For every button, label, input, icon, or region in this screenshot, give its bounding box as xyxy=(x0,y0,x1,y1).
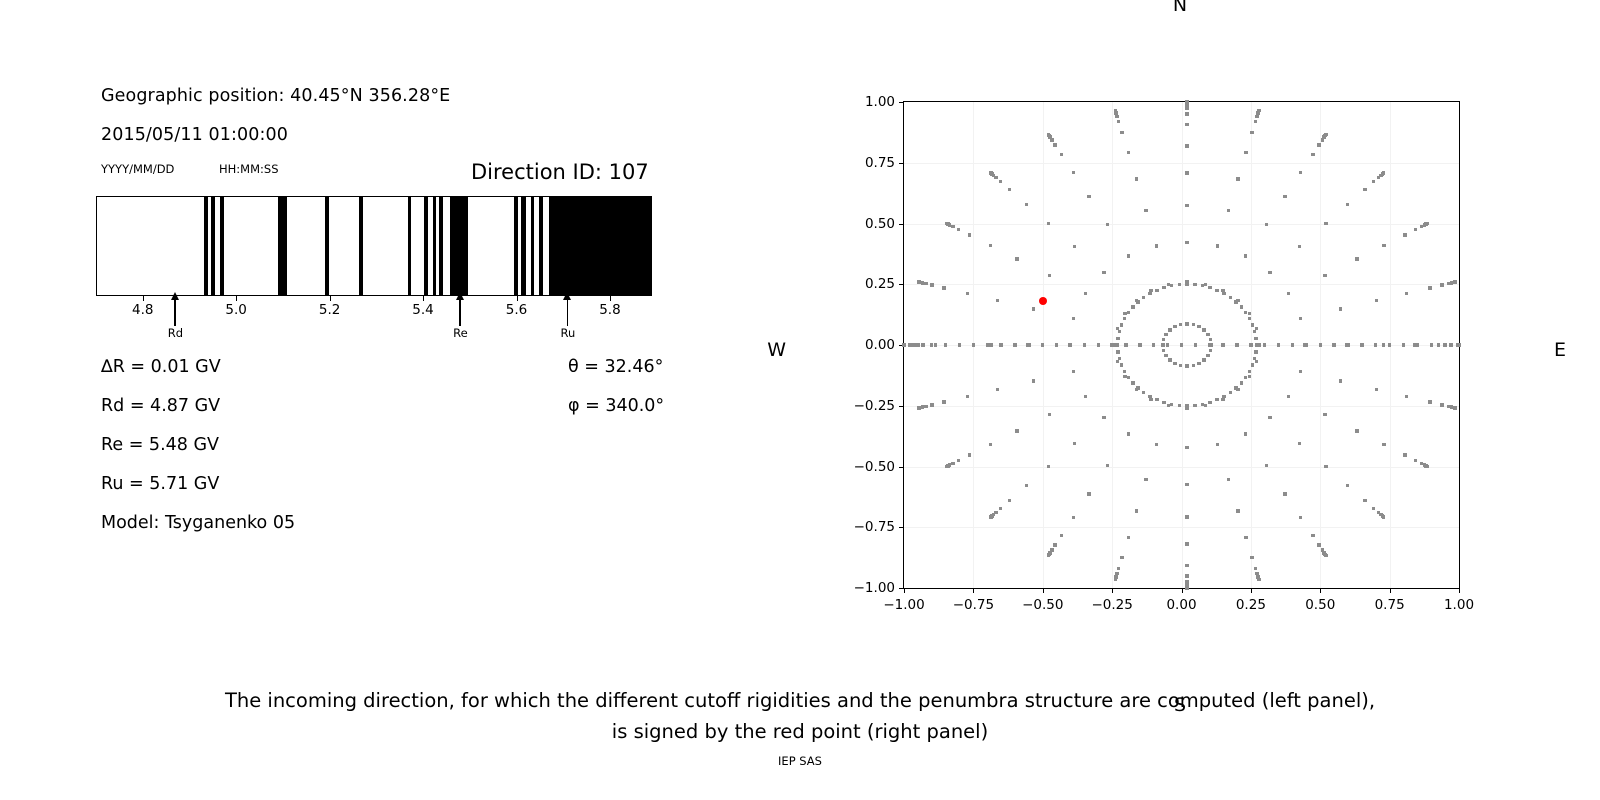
scatter-dot xyxy=(1116,350,1119,353)
scatter-dot xyxy=(1244,376,1247,379)
scatter-dot xyxy=(1144,209,1147,212)
scatter-dot xyxy=(1047,465,1050,468)
scatter-dot xyxy=(1053,543,1056,546)
scatter-dot xyxy=(1087,195,1090,198)
scatter-dot xyxy=(1084,292,1087,295)
y-axis-tick xyxy=(899,527,904,528)
axis-tick-label: 4.8 xyxy=(132,302,153,318)
scatter-dot xyxy=(1204,283,1207,286)
caption-line-1: The incoming direction, for which the di… xyxy=(0,685,1600,716)
scatter-dot xyxy=(1127,311,1130,314)
x-axis-tick xyxy=(1251,588,1252,593)
scatter-dot xyxy=(1250,556,1253,559)
scatter-dot xyxy=(1197,325,1200,328)
scatter-dot xyxy=(1403,453,1406,456)
scatter-dot xyxy=(1305,343,1308,346)
scatter-dot xyxy=(1222,395,1225,398)
penumbra-band xyxy=(433,197,436,295)
scatter-dot xyxy=(1073,245,1076,248)
scatter-dot xyxy=(1162,338,1165,341)
datetime-value: 2015/05/11 01:00:00 xyxy=(101,125,288,145)
scatter-dot xyxy=(1453,406,1456,409)
scatter-dot xyxy=(1388,343,1391,346)
y-axis-tick xyxy=(899,224,904,225)
scatter-dot xyxy=(1164,354,1167,357)
scatter-dot xyxy=(1437,343,1440,346)
x-axis-tick-label: −1.00 xyxy=(883,597,924,613)
scatter-dot xyxy=(999,343,1002,346)
x-axis-tick xyxy=(973,588,974,593)
scatter-dot xyxy=(1324,465,1327,468)
scatter-dot xyxy=(1083,343,1086,346)
scatter-dot xyxy=(921,343,924,346)
penumbra-band xyxy=(408,197,412,295)
arrow-shaft xyxy=(459,296,460,326)
scatter-dot xyxy=(1248,312,1251,315)
scatter-dot xyxy=(1164,333,1167,336)
scatter-dot xyxy=(996,299,999,302)
scatter-dot xyxy=(1222,292,1225,295)
scatter-dot xyxy=(1453,280,1456,283)
scatter-dot xyxy=(958,343,961,346)
scatter-dot xyxy=(1382,515,1385,518)
gridline-horizontal xyxy=(904,284,1459,285)
scatter-dot xyxy=(1346,484,1349,487)
scatter-dot xyxy=(924,282,927,285)
scatter-dot xyxy=(1277,343,1280,346)
scatter-dot xyxy=(1257,109,1260,112)
scatter-dot xyxy=(1193,283,1196,286)
scatter-dot xyxy=(951,462,954,465)
scatter-dot xyxy=(1257,578,1260,581)
param-theta: θ = 32.46° xyxy=(568,357,663,377)
gridline-horizontal xyxy=(904,527,1459,528)
arrow-shaft xyxy=(174,296,175,326)
scatter-dot xyxy=(1240,381,1243,384)
penumbra-band xyxy=(514,197,518,295)
scatter-dot xyxy=(1244,151,1247,154)
scatter-dot xyxy=(930,343,933,346)
scatter-dot xyxy=(1202,358,1205,361)
scatter-dot xyxy=(1115,115,1118,118)
scatter-dot xyxy=(1162,286,1165,289)
scatter-dot xyxy=(1185,404,1188,407)
scatter-dot xyxy=(1015,429,1018,432)
scatter-dot xyxy=(1168,358,1171,361)
scatter-dot xyxy=(1414,459,1417,462)
scatter-dot xyxy=(1185,446,1188,449)
scatter-dot xyxy=(1072,317,1075,320)
scatter-dot xyxy=(1204,404,1207,407)
gridline-horizontal xyxy=(904,406,1459,407)
right-panel: −1.00−0.75−0.50−0.250.000.250.500.751.00… xyxy=(830,40,1530,660)
scatter-dot xyxy=(1323,274,1326,277)
scatter-dot xyxy=(945,465,948,468)
scatter-dot xyxy=(1110,343,1113,346)
y-axis-tick-label: 1.00 xyxy=(865,94,895,110)
axis-tick xyxy=(236,296,237,301)
axis-tick xyxy=(143,296,144,301)
scatter-dot xyxy=(1375,299,1378,302)
scatter-dot xyxy=(1311,534,1314,537)
scatter-dot xyxy=(1251,323,1254,326)
scatter-dot xyxy=(1106,464,1109,467)
penumbra-band xyxy=(325,197,328,295)
x-axis-tick-label: 1.00 xyxy=(1444,597,1474,613)
x-axis-tick-label: 0.75 xyxy=(1375,597,1405,613)
param-model: Model: Tsyganenko 05 xyxy=(101,513,295,533)
scatter-dot xyxy=(1324,222,1327,225)
direction-scatter-plot: −1.00−0.75−0.50−0.250.000.250.500.751.00… xyxy=(903,101,1460,589)
penumbra-band xyxy=(450,197,469,295)
scatter-dot xyxy=(1363,499,1366,502)
penumbra-band xyxy=(521,197,525,295)
scatter-dot xyxy=(989,515,992,518)
scatter-dot xyxy=(1209,349,1212,352)
x-axis-tick-label: 0.50 xyxy=(1305,597,1335,613)
scatter-dot xyxy=(1240,305,1243,308)
penumbra-band xyxy=(531,197,534,295)
scatter-dot xyxy=(1144,478,1147,481)
scatter-dot xyxy=(1185,112,1188,115)
scatter-dot xyxy=(1185,322,1188,325)
x-axis-tick xyxy=(1320,588,1321,593)
scatter-dot xyxy=(1374,343,1377,346)
scatter-dot xyxy=(1430,343,1433,346)
scatter-dot xyxy=(917,406,920,409)
scatter-dot xyxy=(1185,574,1188,577)
scatter-dot xyxy=(1118,357,1121,360)
scatter-dot xyxy=(1201,403,1204,406)
param-ru: Ru = 5.71 GV xyxy=(101,474,219,494)
scatter-dot xyxy=(1185,204,1188,207)
scatter-dot xyxy=(966,395,969,398)
penumbra-band xyxy=(539,197,543,295)
scatter-dot xyxy=(1142,391,1145,394)
scatter-dot xyxy=(1440,403,1443,406)
y-axis-tick xyxy=(899,102,904,103)
scatter-dot xyxy=(1382,343,1385,346)
highlight-red-point xyxy=(1039,297,1047,305)
scatter-dot xyxy=(1375,388,1378,391)
y-axis-tick-label: −0.25 xyxy=(854,398,895,414)
scatter-dot xyxy=(1194,343,1197,346)
scatter-dot xyxy=(1323,413,1326,416)
scatter-dot xyxy=(1227,209,1230,212)
scatter-dot xyxy=(1229,296,1232,299)
scatter-dot xyxy=(1170,284,1173,287)
scatter-dot xyxy=(1173,325,1176,328)
scatter-dot xyxy=(1291,343,1294,346)
scatter-dot xyxy=(1155,443,1158,446)
scatter-dot xyxy=(1339,307,1342,310)
y-axis-tick xyxy=(899,284,904,285)
scatter-dot xyxy=(1363,188,1366,191)
scatter-dot xyxy=(1047,554,1050,557)
scatter-dot xyxy=(1248,370,1251,373)
scatter-dot xyxy=(1206,354,1209,357)
y-axis-tick-label: −0.50 xyxy=(854,459,895,475)
scatter-dot xyxy=(1372,507,1375,510)
scatter-dot xyxy=(1120,363,1123,366)
compass-label-east: E xyxy=(1554,339,1566,361)
gridline-horizontal xyxy=(904,467,1459,468)
scatter-dot xyxy=(1041,343,1044,346)
scatter-dot xyxy=(1426,222,1429,225)
penumbra-axis: 4.85.05.25.45.65.8RdReRu xyxy=(96,296,652,356)
scatter-dot xyxy=(1185,107,1188,110)
scatter-dot xyxy=(1185,144,1188,147)
scatter-dot xyxy=(1015,257,1018,260)
penumbra-band xyxy=(220,197,224,295)
penumbra-band xyxy=(439,197,443,295)
x-axis-tick xyxy=(904,588,905,593)
scatter-dot xyxy=(1405,395,1408,398)
scatter-dot xyxy=(1166,343,1169,346)
scatter-dot xyxy=(1127,151,1130,154)
scatter-dot xyxy=(1250,131,1253,134)
scatter-dot xyxy=(1116,343,1119,346)
scatter-dot xyxy=(1127,254,1130,257)
scatter-dot xyxy=(1060,534,1063,537)
scatter-dot xyxy=(968,233,971,236)
scatter-dot xyxy=(1032,307,1035,310)
x-axis-tick xyxy=(1112,588,1113,593)
scatter-dot xyxy=(916,343,919,346)
x-axis-tick xyxy=(1182,588,1183,593)
axis-tick xyxy=(517,296,518,301)
scatter-dot xyxy=(1193,404,1196,407)
scatter-dot xyxy=(1114,109,1117,112)
scatter-dot xyxy=(1253,330,1256,333)
penumbra-band xyxy=(278,197,286,295)
scatter-dot xyxy=(1268,271,1271,274)
scatter-dot xyxy=(1161,343,1164,346)
scatter-dot xyxy=(1053,143,1056,146)
scatter-dot xyxy=(1209,338,1212,341)
penumbra-band xyxy=(211,197,215,295)
scatter-dot xyxy=(1234,300,1237,303)
scatter-dot xyxy=(1244,432,1247,435)
compass-label-north: N xyxy=(1173,0,1187,16)
scatter-dot xyxy=(1372,180,1375,183)
scatter-dot xyxy=(1254,350,1257,353)
scatter-dot xyxy=(1048,274,1051,277)
axis-tick xyxy=(330,296,331,301)
scatter-dot xyxy=(1013,343,1016,346)
scatter-dot xyxy=(1255,343,1258,346)
axis-tick-label: 5.0 xyxy=(225,302,246,318)
scatter-dot xyxy=(908,343,911,346)
scatter-dot xyxy=(1283,492,1286,495)
gridline-horizontal xyxy=(904,163,1459,164)
left-panel: Geographic position: 40.45°N 356.28°E 20… xyxy=(0,0,760,620)
caption-line-2: is signed by the red point (right panel) xyxy=(0,716,1600,747)
scatter-dot xyxy=(1227,478,1230,481)
scatter-dot xyxy=(1148,395,1151,398)
scatter-dot xyxy=(1443,343,1446,346)
scatter-dot xyxy=(1131,305,1134,308)
penumbra-chart xyxy=(96,196,652,296)
scatter-dot xyxy=(1173,362,1176,365)
scatter-dot xyxy=(1123,370,1126,373)
axis-tick xyxy=(423,296,424,301)
scatter-dot xyxy=(1402,343,1405,346)
scatter-dot xyxy=(986,343,989,346)
scatter-dot xyxy=(1287,292,1290,295)
scatter-dot xyxy=(1168,328,1171,331)
scatter-dot xyxy=(944,343,947,346)
date-format-hint: YYYY/MM/DD xyxy=(101,162,174,176)
scatter-dot xyxy=(1179,323,1182,326)
scatter-dot xyxy=(1208,286,1211,289)
scatter-dot xyxy=(1221,398,1224,401)
scatter-dot xyxy=(1298,442,1301,445)
scatter-dot xyxy=(1135,509,1138,512)
scatter-dot xyxy=(1229,391,1232,394)
scatter-dot xyxy=(930,403,933,406)
scatter-dot xyxy=(1185,171,1188,174)
scatter-dot xyxy=(989,443,992,446)
scatter-dot xyxy=(1216,244,1219,247)
arrow-up-icon xyxy=(456,292,464,300)
scatter-dot xyxy=(968,453,971,456)
scatter-dot xyxy=(1178,404,1181,407)
rigidity-marker-label: Rd xyxy=(168,326,183,340)
scatter-dot xyxy=(1149,398,1152,401)
scatter-dot xyxy=(1208,401,1211,404)
scatter-dot xyxy=(1414,228,1417,231)
scatter-dot xyxy=(1185,123,1188,126)
scatter-dot xyxy=(989,244,992,247)
scatter-dot xyxy=(1221,343,1224,346)
scatter-dot xyxy=(1236,509,1239,512)
scatter-dot xyxy=(957,228,960,231)
scatter-dot xyxy=(1131,381,1134,384)
scatter-dot xyxy=(1148,292,1151,295)
scatter-dot xyxy=(1426,465,1429,468)
scatter-dot xyxy=(1135,177,1138,180)
axis-tick-label: 5.4 xyxy=(412,302,433,318)
scatter-dot xyxy=(924,405,927,408)
scatter-dot xyxy=(1317,543,1320,546)
scatter-dot xyxy=(1117,567,1120,570)
scatter-dot xyxy=(1025,203,1028,206)
scatter-dot xyxy=(1324,554,1327,557)
scatter-dot xyxy=(942,400,945,403)
scatter-dot xyxy=(1185,364,1188,367)
scatter-dot xyxy=(1127,376,1130,379)
scatter-dot xyxy=(1106,223,1109,226)
scatter-dot xyxy=(1215,398,1218,401)
scatter-dot xyxy=(1136,386,1139,389)
scatter-dot xyxy=(1299,370,1302,373)
scatter-dot xyxy=(1249,343,1252,346)
scatter-dot xyxy=(1136,300,1139,303)
x-axis-tick-label: −0.75 xyxy=(953,597,994,613)
param-re: Re = 5.48 GV xyxy=(101,435,219,455)
scatter-dot xyxy=(999,180,1002,183)
scatter-dot xyxy=(1248,317,1251,320)
scatter-dot xyxy=(1403,233,1406,236)
scatter-dot xyxy=(1416,343,1419,346)
scatter-dot xyxy=(957,459,960,462)
penumbra-band xyxy=(424,197,428,295)
scatter-dot xyxy=(1047,133,1050,136)
scatter-dot xyxy=(1048,413,1051,416)
param-delta-r: ∆R = 0.01 GV xyxy=(101,357,221,377)
scatter-dot xyxy=(1142,296,1145,299)
rigidity-marker-label: Ru xyxy=(561,326,576,340)
scatter-dot xyxy=(1170,403,1173,406)
gridline-horizontal xyxy=(904,224,1459,225)
scatter-dot xyxy=(1138,343,1141,346)
scatter-dot xyxy=(1405,292,1408,295)
scatter-dot xyxy=(1008,499,1011,502)
compass-label-west: W xyxy=(767,339,786,361)
scatter-dot xyxy=(1324,133,1327,136)
figure-caption: The incoming direction, for which the di… xyxy=(0,685,1600,747)
scatter-dot xyxy=(902,343,905,346)
scatter-dot xyxy=(1087,492,1090,495)
scatter-dot xyxy=(1283,195,1286,198)
y-axis-tick xyxy=(899,406,904,407)
x-axis-tick xyxy=(1390,588,1391,593)
axis-tick-label: 5.2 xyxy=(319,302,340,318)
scatter-dot xyxy=(1265,223,1268,226)
arrow-up-icon xyxy=(563,292,571,300)
scatter-dot xyxy=(1236,177,1239,180)
scatter-dot xyxy=(1123,317,1126,320)
scatter-dot xyxy=(1311,153,1314,156)
scatter-dot xyxy=(1114,578,1117,581)
scatter-dot xyxy=(1299,516,1302,519)
scatter-dot xyxy=(1180,343,1183,346)
scatter-dot xyxy=(1055,343,1058,346)
scatter-dot xyxy=(1254,567,1257,570)
scatter-dot xyxy=(1120,131,1123,134)
scatter-dot xyxy=(1192,323,1195,326)
scatter-dot xyxy=(1162,401,1165,404)
scatter-dot xyxy=(1215,289,1218,292)
y-axis-tick xyxy=(899,163,904,164)
time-format-hint: HH:MM:SS xyxy=(219,162,279,176)
x-axis-tick-label: −0.50 xyxy=(1022,597,1063,613)
scatter-dot xyxy=(1382,244,1385,247)
scatter-dot xyxy=(1116,337,1119,340)
scatter-dot xyxy=(1265,464,1268,467)
scatter-dot xyxy=(1244,254,1247,257)
x-axis-tick xyxy=(1459,588,1460,593)
rigidity-marker-label: Re xyxy=(453,326,468,340)
scatter-dot xyxy=(1097,343,1100,346)
scatter-dot xyxy=(1332,343,1335,346)
x-axis-tick-label: 0.25 xyxy=(1236,597,1266,613)
scatter-dot xyxy=(1155,289,1158,292)
scatter-dot xyxy=(1268,416,1271,419)
scatter-dot xyxy=(942,286,945,289)
penumbra-band xyxy=(359,197,363,295)
scatter-dot xyxy=(1355,429,1358,432)
scatter-dot xyxy=(1185,515,1188,518)
scatter-dot xyxy=(917,280,920,283)
scatter-dot xyxy=(1234,386,1237,389)
scatter-dot xyxy=(1127,536,1130,539)
scatter-dot xyxy=(1254,337,1257,340)
scatter-dot xyxy=(1152,343,1155,346)
scatter-dot xyxy=(1162,349,1165,352)
scatter-dot xyxy=(1047,222,1050,225)
